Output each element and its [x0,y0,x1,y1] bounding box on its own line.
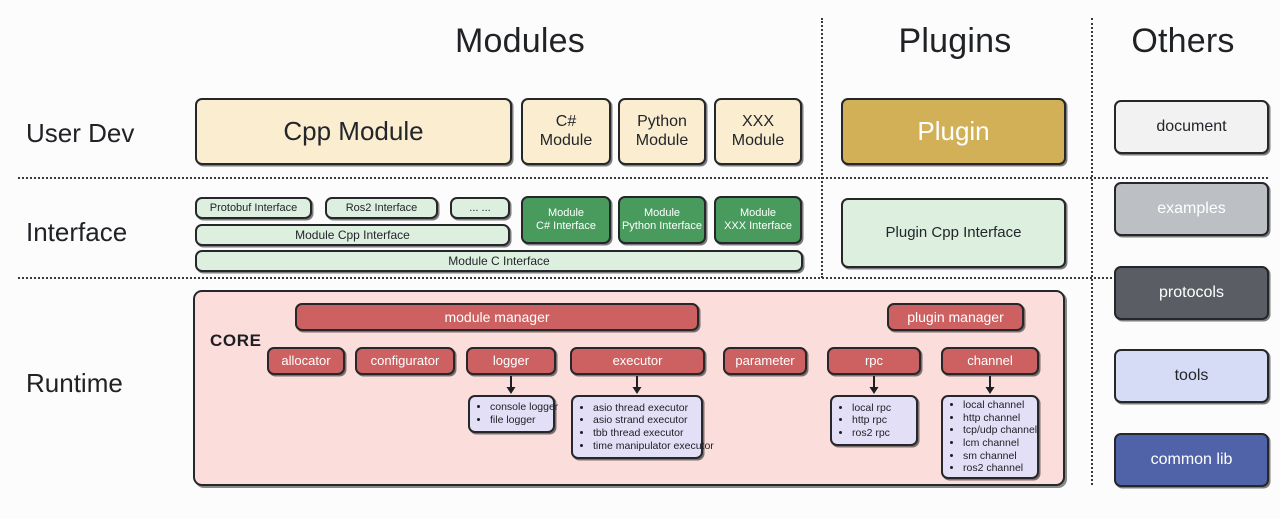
list-item: tcp/udp channel [963,424,1037,437]
channel-details-box[interactable]: local channel http channel tcp/udp chann… [941,395,1039,479]
cpp-module-label: Cpp Module [283,116,423,147]
column-header-modules-label: Modules [455,22,585,60]
ros2-interface-label: Ros2 Interface [346,202,418,215]
plugin-manager-label: plugin manager [907,309,1004,326]
module-manager-box[interactable]: module manager [295,303,699,331]
logger-details-list: console logger file logger [476,401,558,426]
column-header-plugins: Plugins [835,22,1075,61]
list-item: asio thread executor [593,402,714,415]
divider-modules-plugins [821,18,823,278]
configurator-label: configurator [371,353,440,368]
arrow-executor-to-details [630,375,644,395]
list-item: local rpc [852,402,891,415]
list-item: http channel [963,412,1037,425]
column-header-others: Others [1098,22,1268,61]
others-item-tools-label: tools [1175,367,1209,386]
csharp-module-label: C# Module [540,113,592,151]
module-xxx-interface-label: Module XXX Interface [724,207,792,233]
row-label-user-dev-text: User Dev [26,118,134,148]
module-cpp-interface-label: Module Cpp Interface [295,228,410,242]
logger-label: logger [493,353,529,368]
row-label-interface-text: Interface [26,217,127,247]
logger-details-box[interactable]: console logger file logger [468,395,555,433]
list-item: local channel [963,399,1037,412]
row-label-runtime-text: Runtime [26,368,123,398]
core-label-text: CORE [210,331,262,350]
more-interface-box[interactable]: ... ... [450,197,510,219]
column-header-others-label: Others [1131,22,1234,60]
others-item-examples-label: examples [1157,200,1225,219]
cpp-module-box[interactable]: Cpp Module [195,98,512,165]
rpc-box[interactable]: rpc [827,347,921,375]
list-item: tbb thread executor [593,427,714,440]
allocator-box[interactable]: allocator [267,347,345,375]
rpc-details-box[interactable]: local rpc http rpc ros2 rpc [830,395,918,446]
others-item-common-lib[interactable]: common lib [1114,433,1269,487]
others-item-common-lib-label: common lib [1151,451,1233,470]
module-csharp-interface-box[interactable]: Module C# Interface [521,196,611,244]
protobuf-interface-label: Protobuf Interface [210,202,297,215]
row-label-user-dev: User Dev [26,118,134,149]
protobuf-interface-box[interactable]: Protobuf Interface [195,197,312,219]
arrow-rpc-to-details [867,375,881,395]
list-item: time manipulator executor [593,440,714,453]
ros2-interface-box[interactable]: Ros2 Interface [325,197,438,219]
list-item: ros2 rpc [852,427,891,440]
channel-box[interactable]: channel [941,347,1039,375]
executor-details-box[interactable]: asio thread executor asio strand executo… [571,395,703,459]
divider-interface-runtime [18,277,1268,279]
xxx-module-label: XXX Module [732,113,784,151]
column-header-modules: Modules [400,22,640,61]
more-interface-label: ... ... [469,202,490,215]
column-header-plugins-label: Plugins [899,22,1012,60]
list-item: lcm channel [963,437,1037,450]
others-item-document-label: document [1156,118,1226,137]
plugin-manager-box[interactable]: plugin manager [887,303,1024,331]
python-module-box[interactable]: Python Module [618,98,706,165]
plugin-box[interactable]: Plugin [841,98,1066,165]
executor-label: executor [613,353,663,368]
module-c-interface-label: Module C Interface [448,254,549,268]
plugin-cpp-interface-box[interactable]: Plugin Cpp Interface [841,198,1066,268]
arrow-logger-to-details [504,375,518,395]
row-label-runtime: Runtime [26,368,123,399]
module-cpp-interface-box[interactable]: Module Cpp Interface [195,224,510,246]
list-item: asio strand executor [593,414,714,427]
channel-label: channel [967,353,1013,368]
module-c-interface-box[interactable]: Module C Interface [195,250,803,272]
row-label-interface: Interface [26,217,127,248]
csharp-module-box[interactable]: C# Module [521,98,611,165]
xxx-module-box[interactable]: XXX Module [714,98,802,165]
others-item-protocols-label: protocols [1159,284,1224,303]
list-item: http rpc [852,414,891,427]
parameter-label: parameter [735,353,794,368]
rpc-details-list: local rpc http rpc ros2 rpc [838,402,891,440]
core-label: CORE [210,331,262,351]
plugin-label: Plugin [917,116,989,147]
divider-plugins-others [1091,18,1093,485]
divider-userdev-interface [18,177,1268,179]
others-item-document[interactable]: document [1114,100,1269,154]
logger-box[interactable]: logger [466,347,556,375]
channel-details-list: local channel http channel tcp/udp chann… [949,399,1037,475]
others-item-tools[interactable]: tools [1114,349,1269,403]
architecture-diagram: Modules Plugins Others User Dev Interfac… [0,0,1280,519]
list-item: file logger [490,414,558,427]
module-xxx-interface-box[interactable]: Module XXX Interface [714,196,802,244]
others-item-protocols[interactable]: protocols [1114,266,1269,320]
plugin-cpp-interface-label: Plugin Cpp Interface [886,224,1022,242]
rpc-label: rpc [865,353,883,368]
module-python-interface-label: Module Python Interface [622,207,702,233]
list-item: sm channel [963,450,1037,463]
executor-details-list: asio thread executor asio strand executo… [579,402,714,452]
arrow-channel-to-details [983,375,997,395]
module-python-interface-box[interactable]: Module Python Interface [618,196,706,244]
module-csharp-interface-label: Module C# Interface [536,207,596,233]
allocator-label: allocator [281,353,330,368]
configurator-box[interactable]: configurator [355,347,455,375]
others-item-examples[interactable]: examples [1114,182,1269,236]
list-item: console logger [490,401,558,414]
python-module-label: Python Module [636,113,688,151]
parameter-box[interactable]: parameter [723,347,807,375]
executor-box[interactable]: executor [570,347,705,375]
module-manager-label: module manager [444,309,549,326]
list-item: ros2 channel [963,462,1037,475]
